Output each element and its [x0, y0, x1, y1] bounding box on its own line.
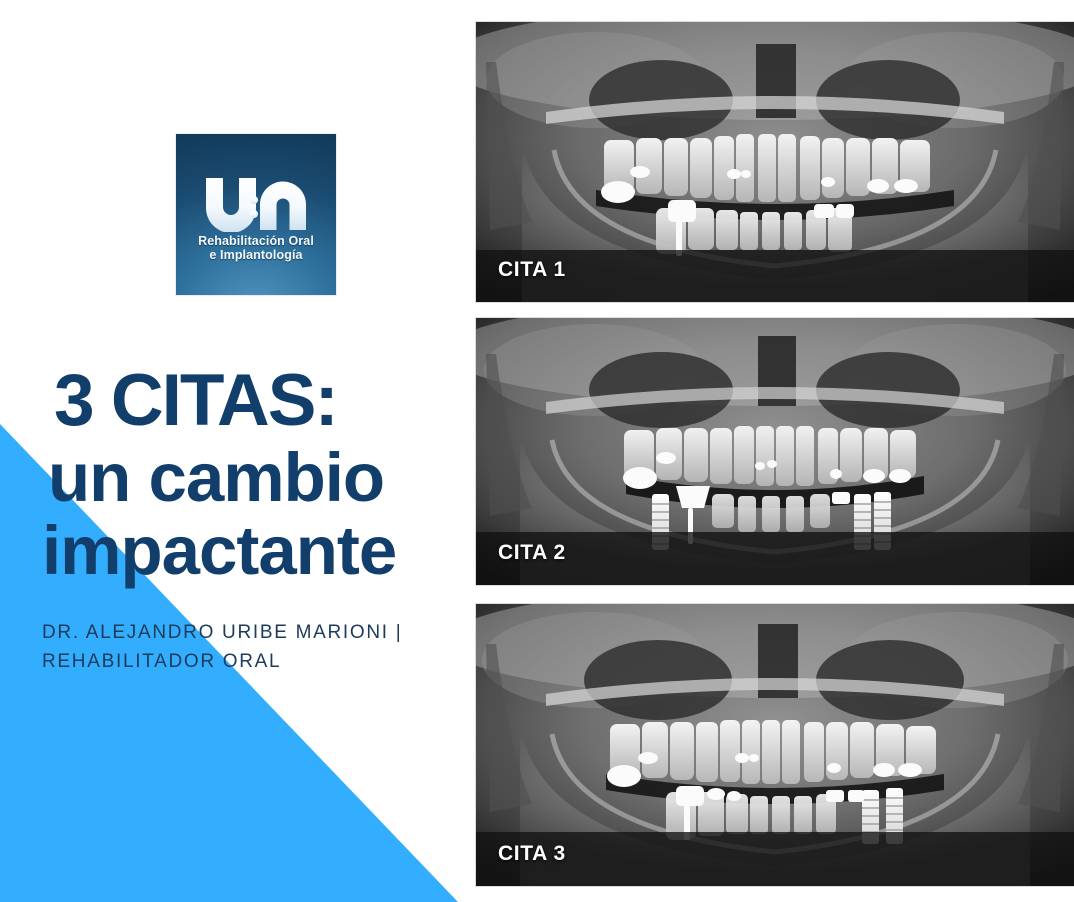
radiograph-label-3: CITA 3 [498, 842, 566, 866]
doctor-byline: DR. ALEJANDRO URIBE MARIONI | REHABILITA… [42, 618, 442, 676]
logo-tagline-line-2: e Implantología [209, 248, 302, 262]
poster-headline: 3 CITAS: un cambio impactante [44, 366, 474, 585]
headline-line-3: impactante [42, 518, 474, 585]
radiograph-panel-1: CITA 1 [476, 22, 1074, 302]
radiograph-panel-3: CITA 3 [476, 604, 1074, 886]
radiograph-panel-2: CITA 2 [476, 318, 1074, 585]
um-monogram-icon [202, 174, 310, 232]
radiograph-column: CITA 1 [476, 0, 1074, 902]
radiograph-label-2: CITA 2 [498, 541, 566, 565]
left-content-column: Rehabilitación Oral e Implantología 3 CI… [0, 0, 470, 902]
logo-tagline-line-1: Rehabilitación Oral [198, 234, 314, 248]
clinic-logo: Rehabilitación Oral e Implantología [176, 134, 336, 295]
byline-line-1: DR. ALEJANDRO URIBE MARIONI | [42, 618, 442, 647]
poster-canvas: Rehabilitación Oral e Implantología 3 CI… [0, 0, 1074, 902]
radiograph-label-1: CITA 1 [498, 258, 566, 282]
headline-line-2: un cambio [48, 445, 474, 512]
byline-line-2: REHABILITADOR ORAL [42, 647, 442, 676]
headline-line-1: 3 CITAS: [54, 366, 474, 437]
